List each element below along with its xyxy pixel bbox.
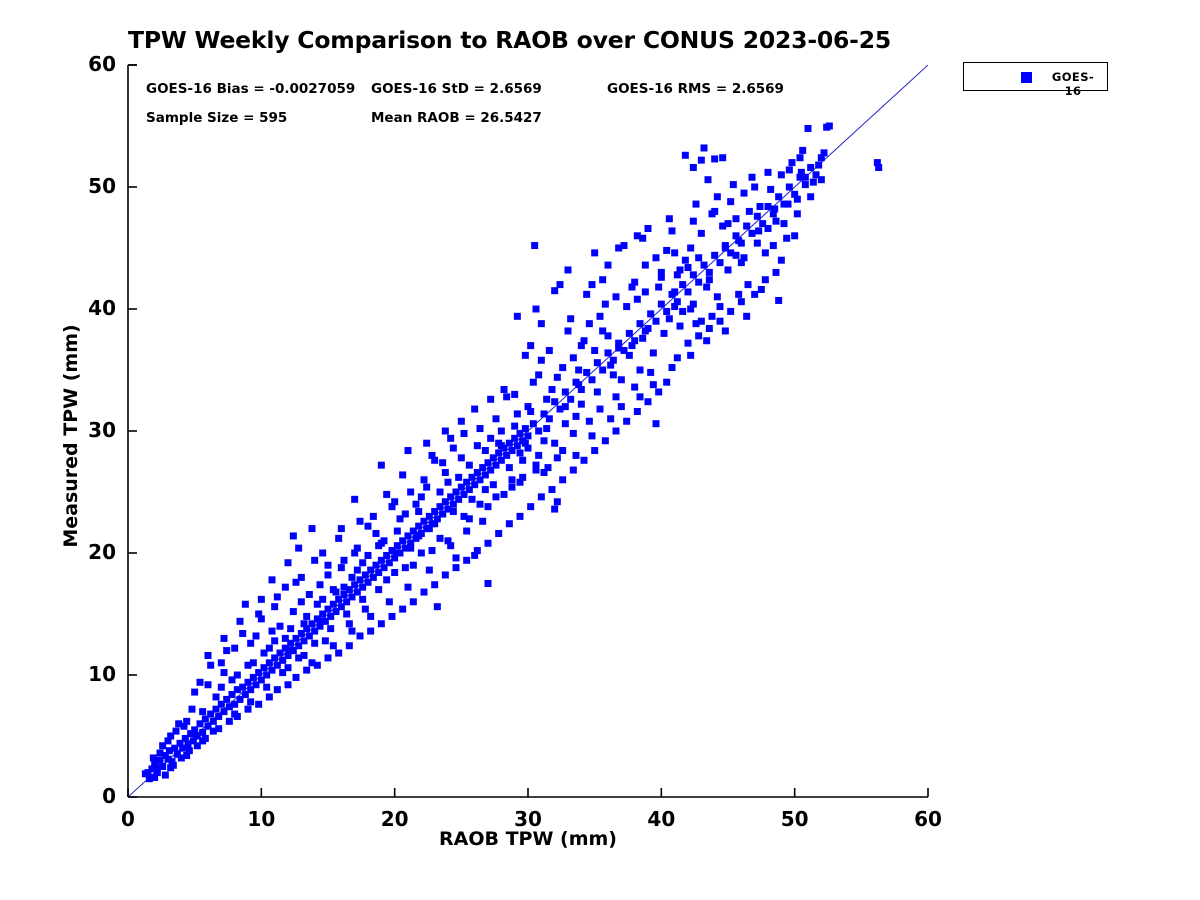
data-point — [317, 581, 324, 588]
data-point — [282, 584, 289, 591]
data-point — [274, 593, 281, 600]
data-point — [506, 520, 513, 527]
data-point — [687, 245, 694, 252]
data-point — [170, 762, 177, 769]
data-point — [698, 157, 705, 164]
data-point — [325, 562, 332, 569]
data-point — [757, 203, 764, 210]
data-point — [527, 342, 534, 349]
data-point — [613, 393, 620, 400]
data-point — [234, 713, 241, 720]
data-point — [690, 164, 697, 171]
legend-box[interactable]: GOES-16 — [963, 62, 1108, 91]
data-point — [719, 154, 726, 161]
data-point — [650, 349, 657, 356]
x-tick-label: 30 — [488, 807, 568, 831]
data-point — [690, 218, 697, 225]
data-point — [685, 288, 692, 295]
data-point — [543, 425, 550, 432]
data-point — [642, 288, 649, 295]
data-point — [543, 396, 550, 403]
data-point — [559, 447, 566, 454]
data-point — [583, 369, 590, 376]
data-point — [663, 247, 670, 254]
data-point — [783, 235, 790, 242]
data-point — [407, 489, 414, 496]
data-point — [743, 223, 750, 230]
data-point — [698, 318, 705, 325]
data-point — [705, 176, 712, 183]
data-point — [538, 493, 545, 500]
data-point — [223, 647, 230, 654]
data-point — [511, 391, 518, 398]
data-point — [771, 205, 778, 212]
data-point — [613, 428, 620, 435]
data-point — [479, 518, 486, 525]
data-point — [274, 686, 281, 693]
data-point — [287, 647, 294, 654]
data-point — [554, 498, 561, 505]
data-point — [594, 388, 601, 395]
data-point — [597, 406, 604, 413]
data-point — [354, 545, 361, 552]
data-point — [346, 642, 353, 649]
annotation-bias: GOES-16 Bias = -0.0027059 — [146, 81, 355, 97]
data-point — [610, 371, 617, 378]
data-point — [503, 393, 510, 400]
data-point — [423, 440, 430, 447]
data-point — [669, 364, 676, 371]
data-point — [247, 698, 254, 705]
data-point — [421, 476, 428, 483]
x-tick-label: 10 — [221, 807, 301, 831]
data-point — [525, 432, 532, 439]
data-point — [626, 330, 633, 337]
data-point — [463, 557, 470, 564]
data-point — [765, 203, 772, 210]
data-point — [261, 650, 268, 657]
data-point — [629, 284, 636, 291]
data-point — [245, 706, 252, 713]
data-point — [794, 210, 801, 217]
data-point — [493, 415, 500, 422]
data-point — [343, 611, 350, 618]
data-point — [749, 230, 756, 237]
data-point — [653, 420, 660, 427]
data-point — [522, 425, 529, 432]
data-point — [682, 152, 689, 159]
data-point — [703, 284, 710, 291]
data-point — [647, 369, 654, 376]
data-point — [157, 750, 164, 757]
data-point — [725, 266, 732, 273]
data-point — [309, 525, 316, 532]
data-point — [717, 318, 724, 325]
data-point — [583, 291, 590, 298]
data-point — [807, 164, 814, 171]
data-point — [437, 535, 444, 542]
data-point — [706, 269, 713, 276]
data-point — [573, 413, 580, 420]
data-point — [781, 220, 788, 227]
data-point — [637, 393, 644, 400]
data-point — [330, 586, 337, 593]
data-point — [605, 349, 612, 356]
data-point — [671, 303, 678, 310]
data-point — [325, 571, 332, 578]
data-point — [754, 213, 761, 220]
data-point — [685, 264, 692, 271]
data-point — [258, 596, 265, 603]
data-point — [482, 486, 489, 493]
data-point — [450, 508, 457, 515]
data-point — [150, 754, 157, 761]
data-point — [221, 635, 228, 642]
data-point — [655, 388, 662, 395]
data-point — [778, 171, 785, 178]
data-point — [458, 454, 465, 461]
data-point — [693, 201, 700, 208]
data-point — [394, 528, 401, 535]
data-point — [711, 252, 718, 259]
data-point — [615, 245, 622, 252]
data-point — [567, 396, 574, 403]
data-point — [677, 266, 684, 273]
data-point — [533, 462, 540, 469]
data-point — [421, 589, 428, 596]
data-point — [607, 415, 614, 422]
data-point — [341, 584, 348, 591]
data-point — [645, 398, 652, 405]
data-point — [551, 506, 558, 513]
data-point — [698, 230, 705, 237]
data-point — [487, 396, 494, 403]
data-point — [637, 367, 644, 374]
data-point — [402, 510, 409, 517]
data-point — [623, 303, 630, 310]
data-point — [231, 645, 238, 652]
data-point — [591, 447, 598, 454]
data-point — [405, 447, 412, 454]
data-point — [810, 179, 817, 186]
data-point — [695, 254, 702, 261]
data-point — [586, 320, 593, 327]
data-point — [623, 418, 630, 425]
data-point — [186, 747, 193, 754]
data-point — [498, 442, 505, 449]
data-point — [303, 667, 310, 674]
data-point — [773, 218, 780, 225]
data-point — [599, 367, 606, 374]
data-point — [634, 232, 641, 239]
data-point — [199, 729, 206, 736]
data-point — [202, 735, 209, 742]
data-point — [717, 303, 724, 310]
data-point — [741, 254, 748, 261]
data-point — [749, 174, 756, 181]
data-point — [322, 637, 329, 644]
data-point — [690, 301, 697, 308]
data-point — [509, 484, 516, 491]
data-point — [533, 306, 540, 313]
data-point — [439, 510, 446, 517]
data-point — [549, 386, 556, 393]
data-point — [746, 208, 753, 215]
data-point — [197, 679, 204, 686]
data-point — [762, 249, 769, 256]
data-point — [359, 596, 366, 603]
data-point — [546, 347, 553, 354]
data-point — [178, 754, 185, 761]
data-point — [239, 630, 246, 637]
data-point — [282, 635, 289, 642]
data-point — [466, 462, 473, 469]
data-point — [807, 193, 814, 200]
data-point — [570, 430, 577, 437]
data-point — [551, 287, 558, 294]
data-point — [531, 242, 538, 249]
data-point — [509, 476, 516, 483]
data-point — [314, 662, 321, 669]
annotation-std: GOES-16 StD = 2.6569 — [371, 81, 542, 97]
x-axis-title: RAOB TPW (mm) — [128, 828, 928, 850]
data-point — [797, 154, 804, 161]
data-point — [573, 452, 580, 459]
data-point — [631, 384, 638, 391]
data-point — [719, 223, 726, 230]
data-point — [655, 284, 662, 291]
data-point — [661, 330, 668, 337]
data-point — [191, 726, 198, 733]
data-point — [162, 772, 169, 779]
data-point — [365, 523, 372, 530]
data-point — [359, 559, 366, 566]
data-point — [317, 618, 324, 625]
data-point — [682, 257, 689, 264]
data-point — [229, 676, 236, 683]
data-point — [751, 184, 758, 191]
data-point — [647, 310, 654, 317]
data-point — [602, 301, 609, 308]
data-point — [815, 162, 822, 169]
data-point — [210, 728, 217, 735]
data-point — [589, 376, 596, 383]
data-point — [730, 181, 737, 188]
data-point — [426, 567, 433, 574]
data-point — [762, 276, 769, 283]
data-point — [285, 559, 292, 566]
data-point — [266, 693, 273, 700]
data-point — [618, 403, 625, 410]
data-point — [599, 327, 606, 334]
data-point — [557, 281, 564, 288]
data-point — [770, 242, 777, 249]
data-point — [423, 484, 430, 491]
data-point — [477, 425, 484, 432]
data-point — [562, 403, 569, 410]
data-point — [386, 598, 393, 605]
data-point — [271, 637, 278, 644]
annotation-sample-size: Sample Size = 595 — [146, 110, 287, 126]
data-point — [789, 159, 796, 166]
data-point — [701, 144, 708, 151]
plot-area[interactable]: GOES-16 Bias = -0.0027059 GOES-16 StD = … — [128, 65, 928, 797]
data-point — [415, 532, 422, 539]
data-point — [765, 169, 772, 176]
data-point — [205, 652, 212, 659]
data-point — [391, 498, 398, 505]
data-point — [775, 297, 782, 304]
data-point — [367, 613, 374, 620]
data-point — [474, 442, 481, 449]
data-point — [743, 313, 750, 320]
x-tick-label: 20 — [355, 807, 435, 831]
data-point — [399, 471, 406, 478]
data-point — [522, 352, 529, 359]
data-point — [602, 437, 609, 444]
data-point — [453, 564, 460, 571]
data-point — [290, 532, 297, 539]
data-point — [551, 398, 558, 405]
data-point — [418, 493, 425, 500]
data-point — [207, 662, 214, 669]
data-point — [442, 428, 449, 435]
data-point — [703, 337, 710, 344]
data-point — [714, 193, 721, 200]
data-point — [151, 774, 158, 781]
data-point — [802, 181, 809, 188]
data-point — [431, 581, 438, 588]
data-point — [745, 281, 752, 288]
data-point — [455, 474, 462, 481]
data-point — [263, 684, 270, 691]
data-point — [637, 320, 644, 327]
data-point — [469, 496, 476, 503]
data-point — [658, 301, 665, 308]
data-point — [530, 420, 537, 427]
data-point — [607, 362, 614, 369]
annotation-rms: GOES-16 RMS = 2.6569 — [607, 81, 784, 97]
data-point — [183, 718, 190, 725]
data-point — [605, 262, 612, 269]
data-point — [758, 286, 765, 293]
data-point — [269, 628, 276, 635]
data-point — [429, 547, 436, 554]
data-point — [349, 628, 356, 635]
data-point — [570, 354, 577, 361]
data-point — [775, 193, 782, 200]
data-point — [653, 254, 660, 261]
legend-label-goes16: GOES-16 — [1044, 70, 1102, 98]
data-point — [319, 596, 326, 603]
data-point — [687, 352, 694, 359]
data-point — [290, 608, 297, 615]
data-point — [191, 689, 198, 696]
data-point — [405, 584, 412, 591]
data-point — [709, 313, 716, 320]
data-point — [514, 410, 521, 417]
data-point — [277, 623, 284, 630]
data-point — [525, 445, 532, 452]
data-point — [755, 227, 762, 234]
data-point — [559, 476, 566, 483]
data-point — [445, 479, 452, 486]
data-point — [407, 545, 414, 552]
data-point — [674, 354, 681, 361]
data-point — [410, 598, 417, 605]
data-point — [335, 535, 342, 542]
data-point — [383, 491, 390, 498]
data-point — [213, 693, 220, 700]
data-point — [663, 379, 670, 386]
data-point — [679, 308, 686, 315]
data-point — [695, 279, 702, 286]
data-point — [325, 654, 332, 661]
data-point — [247, 640, 254, 647]
data-point — [701, 262, 708, 269]
data-point — [717, 259, 724, 266]
data-point — [426, 525, 433, 532]
data-point — [751, 291, 758, 298]
data-point — [295, 545, 302, 552]
data-point — [786, 184, 793, 191]
chart-figure: TPW Weekly Comparison to RAOB over CONUS… — [0, 0, 1200, 900]
data-point — [519, 457, 526, 464]
data-point — [826, 123, 833, 130]
data-point — [493, 493, 500, 500]
data-point — [626, 352, 633, 359]
data-point — [237, 618, 244, 625]
x-tick-label: 60 — [888, 807, 968, 831]
data-point — [285, 681, 292, 688]
data-point — [711, 155, 718, 162]
data-point — [618, 376, 625, 383]
data-point — [442, 571, 449, 578]
data-point — [375, 542, 382, 549]
data-point — [471, 406, 478, 413]
data-point — [597, 313, 604, 320]
data-point — [253, 632, 260, 639]
data-point — [650, 381, 657, 388]
data-point — [530, 379, 537, 386]
data-point — [378, 620, 385, 627]
data-point — [351, 496, 358, 503]
data-point — [145, 769, 152, 776]
data-point — [461, 513, 468, 520]
data-point — [245, 662, 252, 669]
data-point — [301, 620, 308, 627]
data-point — [375, 586, 382, 593]
data-point — [365, 552, 372, 559]
data-point — [538, 320, 545, 327]
y-tick-label: 60 — [50, 52, 116, 76]
data-point — [562, 420, 569, 427]
data-point — [567, 315, 574, 322]
data-point — [226, 718, 233, 725]
data-point — [690, 271, 697, 278]
data-point — [482, 447, 489, 454]
y-tick-label: 0 — [50, 784, 116, 808]
y-tick-label: 20 — [50, 540, 116, 564]
data-point — [527, 408, 534, 415]
data-point — [335, 650, 342, 657]
data-point — [722, 245, 729, 252]
data-point — [303, 613, 310, 620]
data-point — [786, 166, 793, 173]
data-point — [511, 423, 518, 430]
data-point — [293, 674, 300, 681]
data-point — [575, 367, 582, 374]
